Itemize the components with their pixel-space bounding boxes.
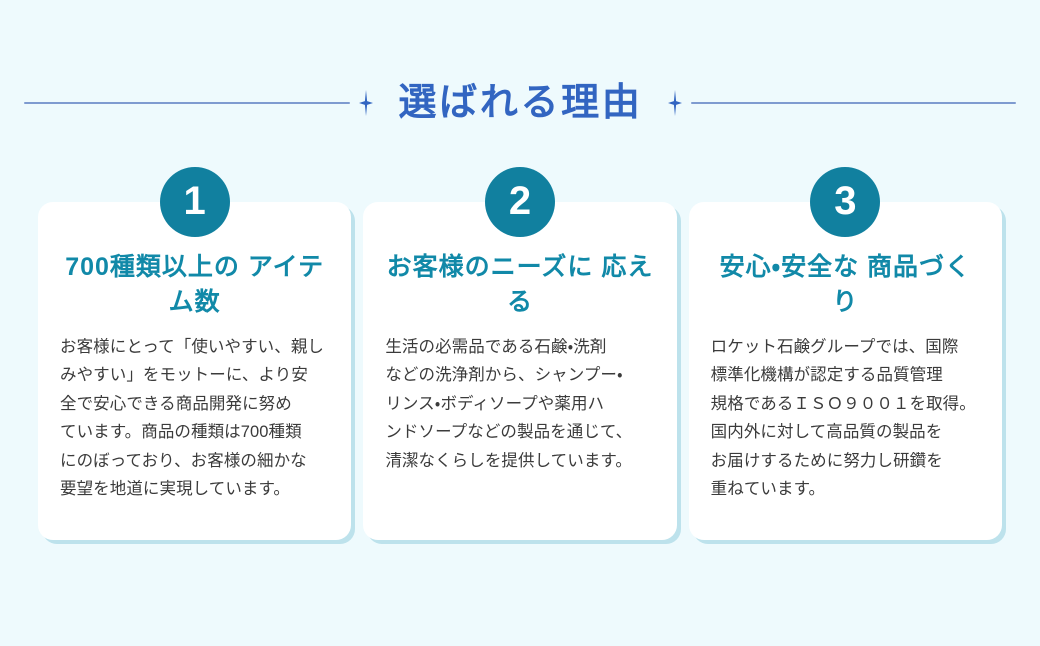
body-line: 規格であるＩＳＯ９００１を取得。 — [711, 390, 980, 418]
step-number-badge-3: 3 — [810, 167, 880, 237]
body-line: 標準化機構が認定する品質管理 — [711, 361, 980, 389]
body-line: 生活の必需品である石鹸・洗剤 — [385, 333, 654, 361]
sparkle-icon-right — [668, 90, 682, 116]
reason-card-body-3: ロケット石鹸グループでは、国際 標準化機構が認定する品質管理 規格であるＩＳＯ９… — [711, 333, 980, 503]
reason-card-list: 1 700種類以上の アイテム数 お客様にとって「使いやすい、親し みやすい」を… — [38, 202, 1002, 540]
reason-card-body-2: 生活の必需品である石鹸・洗剤 などの洗浄剤から、シャンプー・ リンス・ボディソー… — [385, 333, 654, 475]
section-header: 選ばれる理由 — [0, 72, 1040, 134]
body-line: などの洗浄剤から、シャンプー・ — [385, 361, 654, 389]
step-number-badge-1: 1 — [160, 167, 230, 237]
body-line: リンス・ボディソープや薬用ハ — [385, 390, 654, 418]
body-line: にのぼっており、お客様の細かな — [60, 447, 329, 475]
body-line: 重ねています。 — [711, 475, 980, 503]
reason-card-2: 2 お客様のニーズに 応える 生活の必需品である石鹸・洗剤 などの洗浄剤から、シ… — [363, 202, 676, 540]
body-line: 要望を地道に実現しています。 — [60, 475, 329, 503]
reason-card-title-line1: 700種類以上の — [65, 253, 240, 281]
body-line: 国内外に対して高品質の製品を — [711, 418, 980, 446]
step-number-badge-2: 2 — [485, 167, 555, 237]
reason-card-3: 3 安心・安全な 商品づくり ロケット石鹸グループでは、国際 標準化機構が認定す… — [689, 202, 1002, 540]
body-line: お客様にとって「使いやすい、親し — [60, 333, 329, 361]
body-line: ています。商品の種類は700種類 — [60, 418, 329, 446]
body-line: 全で安心できる商品開発に努め — [60, 390, 329, 418]
page-title: 選ばれる理由 — [373, 84, 669, 122]
reason-card-title-3: 安心・安全な 商品づくり — [711, 250, 980, 319]
body-line: ロケット石鹸グループでは、国際 — [711, 333, 980, 361]
body-line: お届けするために努力し研鑽を — [711, 447, 980, 475]
decorative-rule-right — [691, 102, 1016, 104]
decorative-rule-left — [24, 102, 350, 104]
reason-card-title-2: お客様のニーズに 応える — [385, 250, 654, 319]
reason-card-title-line1: 安心・安全な — [720, 253, 860, 281]
reason-card-1: 1 700種類以上の アイテム数 お客様にとって「使いやすい、親し みやすい」を… — [38, 202, 351, 540]
body-line: 清潔なくらしを提供しています。 — [385, 447, 654, 475]
reason-card-title-line1: お客様のニーズに — [387, 253, 594, 281]
sparkle-icon-left — [359, 90, 373, 116]
reason-card-body-1: お客様にとって「使いやすい、親し みやすい」をモットーに、より安 全で安心できる… — [60, 333, 329, 503]
body-line: ンドソープなどの製品を通じて、 — [385, 418, 654, 446]
reason-card-title-1: 700種類以上の アイテム数 — [60, 250, 329, 319]
reasons-section: 選ばれる理由 1 700種類以上の アイテム数 お客様にとって「使いやすい、親し… — [0, 0, 1040, 646]
body-line: みやすい」をモットーに、より安 — [60, 361, 329, 389]
